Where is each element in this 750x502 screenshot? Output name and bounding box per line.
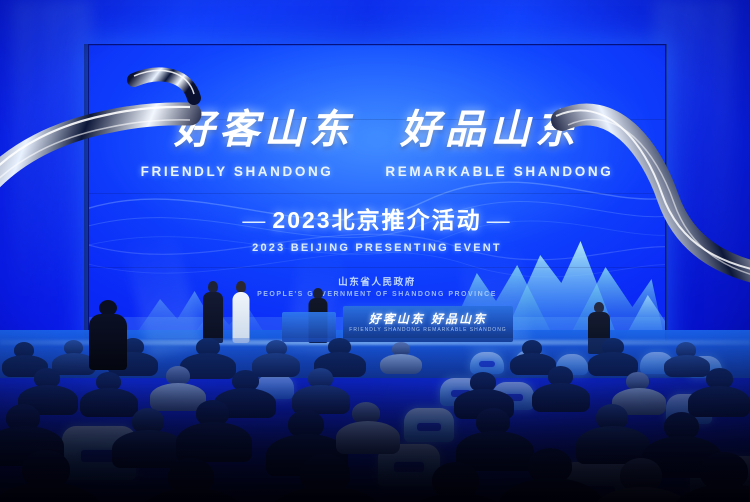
event-stage-photo: 好客山东 好品山东 FRIENDLY SHANDONG REMARKABLE S… <box>0 0 750 502</box>
photo-vignette <box>0 0 750 502</box>
